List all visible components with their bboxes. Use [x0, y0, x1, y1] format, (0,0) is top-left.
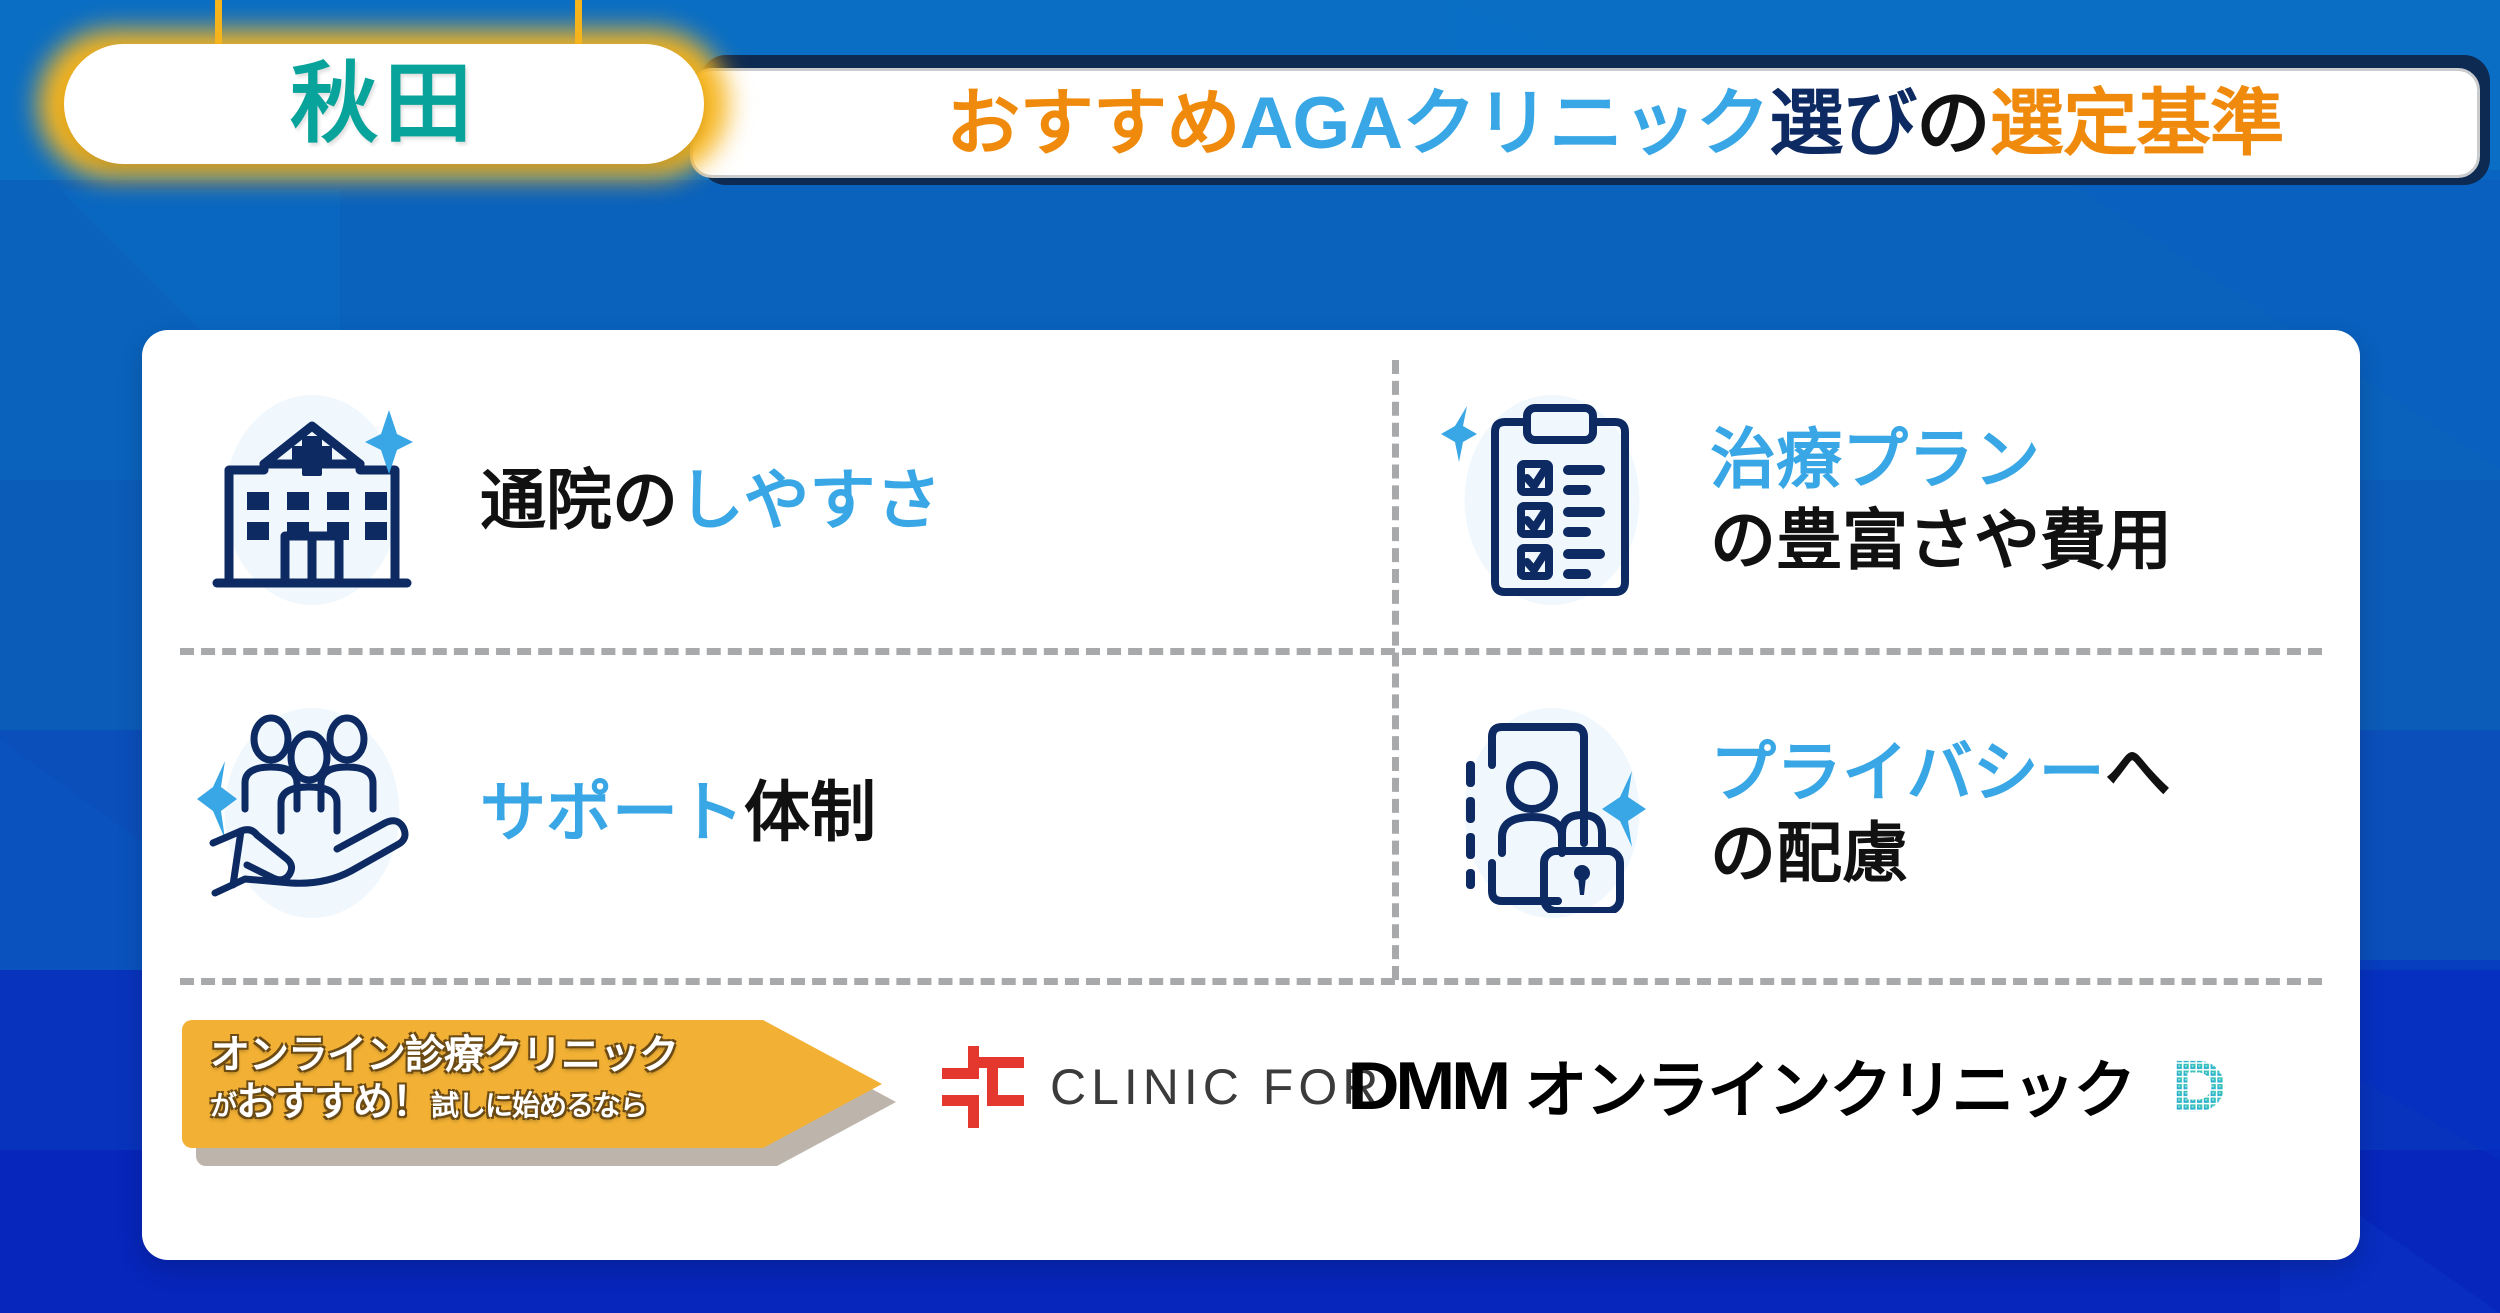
criterion-item-privacy: プライバシーへ の配慮 [1412, 660, 2342, 965]
criterion-plain-tail: の豊富さや費用 [1710, 500, 2172, 581]
sparkle-icon [197, 761, 237, 839]
privacy-lock-icon-wrap [1412, 688, 1692, 938]
dmm-wordmark: DMM [1347, 1047, 1506, 1125]
dmm-online-clinic-logo[interactable]: DMM オンラインクリニック [1352, 1040, 2228, 1131]
arrow-line-2: がおすすめ！試しに始めるなら [210, 1078, 730, 1126]
page-title: おすすめAGAクリニック選びの選定基準 [946, 87, 2283, 160]
title-band: おすすめAGAクリニック選びの選定基準 [690, 68, 2480, 178]
title-segment-2: AGAクリニック [1240, 83, 1770, 164]
criterion-plain-lead: 通院の [480, 463, 678, 537]
criterion-label-privacy: プライバシーへ の配慮 [1710, 732, 2171, 893]
criterion-label-commuting: 通院のしやすさ [480, 460, 941, 541]
criterion-item-treatment-plan: 治療プラン の豊富さや費用 [1412, 355, 2342, 645]
title-segment-4: の [1917, 83, 1990, 164]
region-badge-label: 秋田 [290, 60, 478, 148]
sparkle-icon [365, 410, 413, 474]
arrow-line-1: オンライン診療クリニック [210, 1032, 730, 1078]
title-segment-3: 選び [1770, 83, 1917, 164]
criterion-highlight: しやすさ [678, 463, 941, 537]
criterion-line-2: の配慮 [1710, 813, 2171, 894]
arrow-banner-content: オンライン診療クリニック がおすすめ！試しに始めるなら [210, 1032, 730, 1126]
region-badge: 秋田 [64, 44, 704, 164]
support-hands-icon [195, 713, 430, 913]
dmm-service-name: オンラインクリニック [1524, 1040, 2134, 1131]
criteria-card: 通院のしやすさ [142, 330, 2360, 1260]
criterion-highlight: 治療プラン [1710, 419, 2172, 500]
footer-strip: オンライン診療クリニック がおすすめ！試しに始めるなら CLINIC FOR D… [182, 1020, 2320, 1220]
header: おすすめAGAクリニック選びの選定基準 秋田 [0, 0, 2500, 210]
criterion-highlight: プライバシー [1710, 735, 2105, 809]
hospital-icon-wrap [162, 375, 462, 625]
sparkle-icon [1441, 406, 1477, 462]
dmm-d-mosaic-icon [2170, 1057, 2228, 1115]
criterion-label-support: サポート体制 [480, 772, 876, 853]
support-hands-icon-wrap [162, 688, 462, 938]
criterion-plain-tail: 体制 [744, 775, 876, 849]
clinic-for-wordmark: CLINIC FOR [1050, 1058, 1383, 1116]
criterion-item-commuting: 通院のしやすさ [162, 355, 1377, 645]
title-segment-5: 選定基準 [1990, 83, 2284, 164]
sparkle-icon [1602, 771, 1646, 847]
clinic-for-logo[interactable]: CLINIC FOR [942, 1046, 1383, 1128]
arrow-line-2-particle: が [210, 1090, 236, 1122]
clipboard-checklist-icon [1437, 400, 1667, 600]
privacy-lock-icon [1440, 713, 1665, 913]
criterion-line-1-tail: へ [2105, 735, 2171, 809]
criterion-highlight: サポート [480, 775, 744, 849]
arrow-line-2-tail: 試しに始めるなら [431, 1089, 647, 1123]
arrow-line-2-emphasis: おすすめ！ [236, 1078, 431, 1126]
criterion-item-support: サポート体制 [162, 660, 1377, 965]
hospital-icon [207, 408, 417, 593]
clipboard-checklist-icon-wrap [1412, 375, 1692, 625]
dashed-edge [1466, 761, 1475, 889]
title-segment-1: おすすめ [946, 83, 1240, 164]
criterion-label-treatment-plan: 治療プラン の豊富さや費用 [1710, 419, 2172, 580]
clinic-for-cross-icon [942, 1046, 1024, 1128]
